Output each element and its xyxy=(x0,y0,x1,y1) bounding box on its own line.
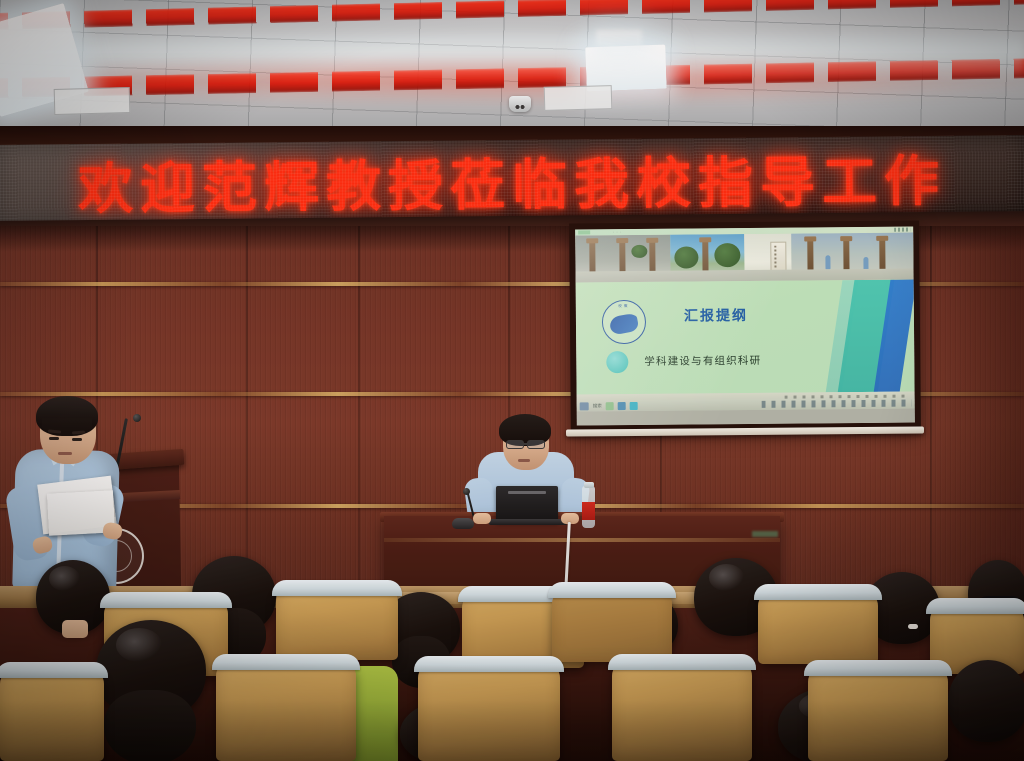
seated-presenter-left-hand xyxy=(473,513,491,524)
auditorium-seat[interactable] xyxy=(276,586,398,660)
titlebar-left-icon xyxy=(578,230,590,234)
laptop-screen[interactable] xyxy=(496,486,558,522)
banner-pillar xyxy=(880,239,886,271)
banner-pillar xyxy=(808,239,814,271)
ceiling-tile-displaced-center xyxy=(544,85,613,111)
led-banner-dot-matrix xyxy=(0,135,1024,225)
water-bottle-cap xyxy=(584,482,594,488)
auditorium-seat[interactable] xyxy=(808,666,948,761)
water-bottle-label xyxy=(582,502,595,520)
attendee-ponytail xyxy=(104,690,196,761)
slide-banner-image xyxy=(575,233,913,283)
titlebar-window-controls xyxy=(894,228,910,232)
banner-tree xyxy=(631,245,647,258)
auditorium-seat[interactable] xyxy=(758,590,878,664)
slide-bullet-text: 学科建设与有组织科研 xyxy=(644,353,761,369)
smoke-detector-icon xyxy=(509,96,531,112)
projected-slide: · · · xyxy=(575,227,915,426)
auditorium-seat[interactable] xyxy=(418,662,560,761)
ceiling xyxy=(0,0,1024,132)
podium-microphone-icon xyxy=(133,414,141,422)
auditorium-seat[interactable] xyxy=(552,588,672,662)
attendee-hair-tie xyxy=(908,624,918,629)
standing-speaker-hair xyxy=(36,396,98,436)
standing-speaker-mouth xyxy=(58,452,72,455)
standing-speaker-eye-left xyxy=(49,437,59,440)
taskbar-search-label[interactable]: 搜索 xyxy=(593,403,602,409)
slide-desktop-margin xyxy=(577,409,915,426)
laptop-keyboard-base[interactable] xyxy=(489,519,567,525)
ceiling-light-panel-upper xyxy=(596,30,642,48)
slide-bullet-marker-icon xyxy=(606,351,628,373)
computer-mouse-icon[interactable] xyxy=(452,518,474,529)
slide-content-area: 校徽 汇报提纲 学科建设与有组织科研 xyxy=(576,280,915,395)
university-crest-icon: 校徽 xyxy=(602,300,646,344)
banner-pillar xyxy=(844,239,850,271)
banner-tree xyxy=(714,243,740,267)
banner-tree xyxy=(674,246,698,268)
glasses-icon-right-lens xyxy=(527,440,545,449)
slide-title: 汇报提纲 xyxy=(684,305,748,326)
auditorium-seat[interactable] xyxy=(216,660,356,761)
banner-pillar xyxy=(619,241,625,273)
projection-screen: · · · xyxy=(569,220,921,431)
desk-trim-line xyxy=(384,538,780,542)
banner-pillar xyxy=(649,241,655,273)
desk-microphone-icon xyxy=(463,488,470,495)
ceiling-sheen xyxy=(0,28,1024,80)
lecture-hall-photo: 欢迎范辉教授莅临我校指导工作 · · · xyxy=(0,0,1024,761)
ceiling-light-panel-center xyxy=(585,45,666,92)
banner-monument xyxy=(702,240,708,274)
banner-person xyxy=(826,255,831,269)
titlebar-text: · · · xyxy=(613,229,621,234)
auditorium-seat[interactable] xyxy=(0,668,104,761)
taskbar-app-icon-1[interactable] xyxy=(606,402,614,410)
banner-pillar xyxy=(589,241,595,273)
attendee-neck xyxy=(62,620,88,638)
glasses-icon-left-lens xyxy=(506,440,524,449)
wall-seam xyxy=(246,226,248,586)
desk-green-light xyxy=(752,531,778,537)
auditorium-seat[interactable] xyxy=(612,660,752,761)
taskbar-app-icon-2[interactable] xyxy=(618,402,626,410)
seated-presenter-mouth xyxy=(518,459,530,462)
attendee-head xyxy=(948,660,1024,742)
standing-speaker-eye-right xyxy=(72,438,82,441)
wall-right-shading xyxy=(930,226,1024,586)
wall-seam xyxy=(358,226,360,586)
glasses-icon-bridge xyxy=(522,443,527,445)
start-button-icon[interactable] xyxy=(580,402,589,410)
taskbar-app-icon-3[interactable] xyxy=(630,401,638,409)
crest-label: 校徽 xyxy=(603,304,645,309)
ceiling-tile-displaced-left xyxy=(54,87,131,115)
taskbar-system-tray[interactable] xyxy=(762,400,912,408)
led-banner: 欢迎范辉教授莅临我校指导工作 xyxy=(0,135,1024,225)
